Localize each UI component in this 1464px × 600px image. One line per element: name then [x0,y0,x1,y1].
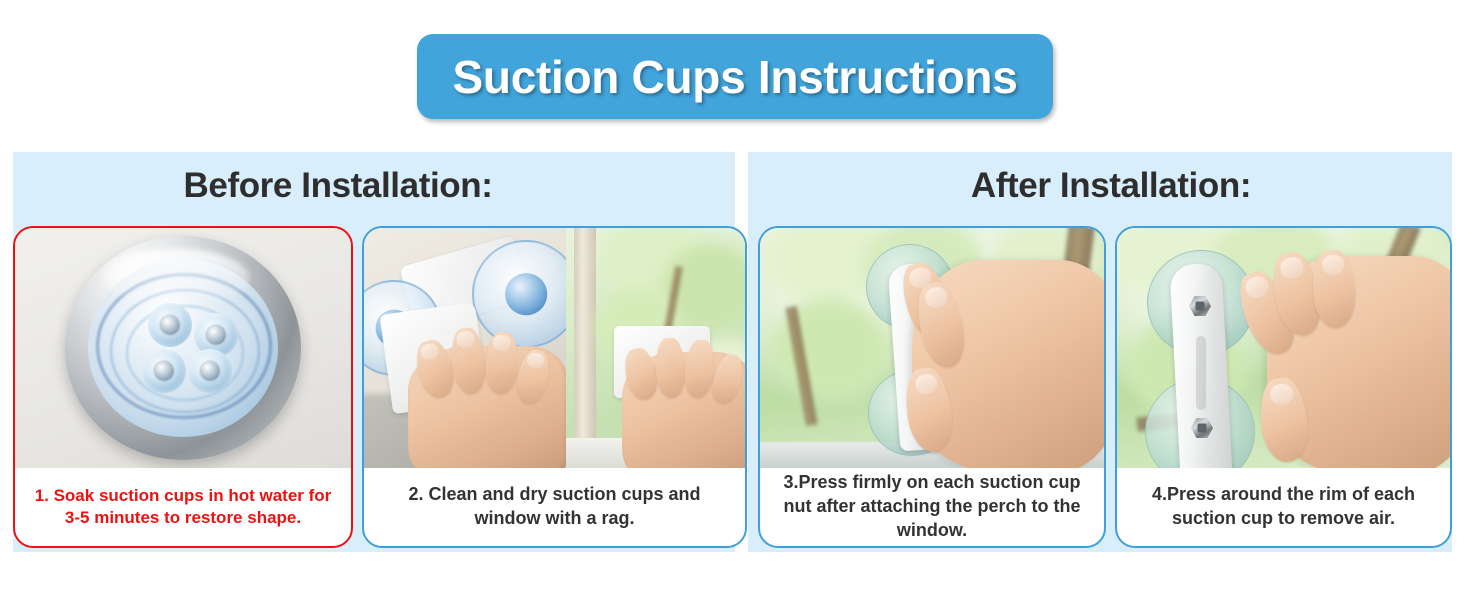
step-card-3: 3.Press firmly on each suction cup nut a… [758,226,1106,548]
bracket-slot [1196,336,1206,410]
photo-cleaning-cups-and-window [364,228,745,468]
fingernail [456,330,476,349]
page-title: Suction Cups Instructions [453,50,1018,104]
finger [621,345,661,402]
metal-bowl-icon [65,236,301,460]
step-caption-4: 4.Press around the rim of each suction c… [1117,468,1450,546]
section-heading-before: Before Installation: [13,166,735,206]
step-caption-1: 1. Soak suction cups in hot water for 3-… [15,468,351,546]
fingernail [923,285,949,310]
step-card-1: 1. Soak suction cups in hot water for 3-… [13,226,353,548]
photo-wiping-window [566,228,745,468]
page-title-banner: Suction Cups Instructions [417,34,1053,119]
photo-pressing-suction-cup-rim [1117,228,1450,468]
fingernail [914,373,939,396]
finger [449,326,489,395]
hand [408,346,566,468]
fingernail [1243,273,1272,301]
step-card-2: 2. Clean and dry suction cups and window… [362,226,747,548]
photo-wiping-suction-cups [364,228,566,468]
fingernail [1269,383,1294,406]
fingernail [526,352,546,370]
finger [513,348,553,407]
fingernail [493,335,512,352]
step-card-4: 4.Press around the rim of each suction c… [1115,226,1452,548]
photo-pressing-suction-cup-nut [760,228,1104,468]
suction-cup [188,349,232,393]
fingernail [1279,255,1306,280]
photo-bowl-of-hot-water [15,228,351,468]
window-frame [574,228,596,468]
step-caption-2: 2. Clean and dry suction cups and window… [364,468,745,546]
bowl-highlight [103,249,249,307]
suction-cup [472,240,566,348]
step-caption-3: 3.Press firmly on each suction cup nut a… [760,468,1104,546]
suction-cup [142,349,186,393]
suction-cup [148,303,192,347]
section-heading-after: After Installation: [748,166,1452,206]
fingernail [419,342,440,362]
hand [622,352,745,468]
fingernail [1322,254,1345,275]
finger [484,331,519,395]
